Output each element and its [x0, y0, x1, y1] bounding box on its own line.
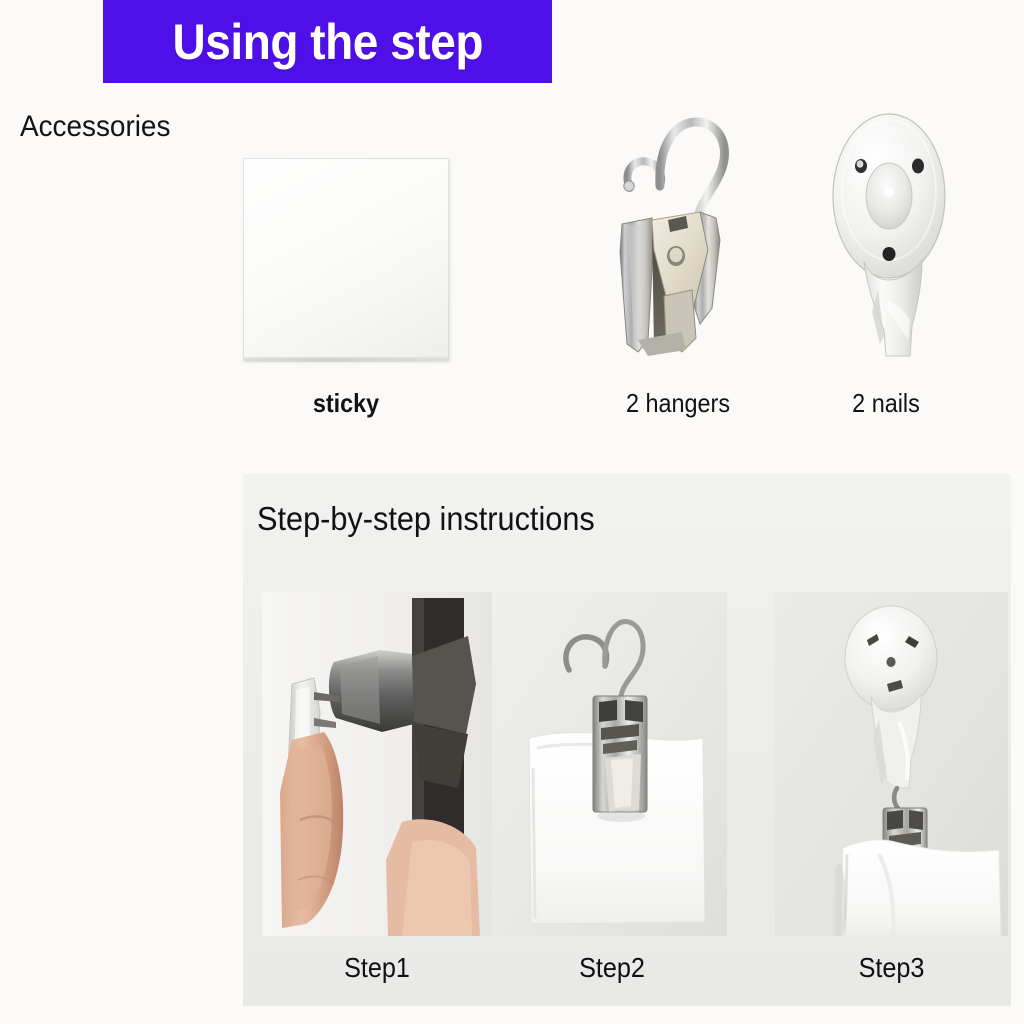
- step-caption-3: Step3: [787, 952, 997, 984]
- step-photo-3: [775, 592, 1008, 936]
- step-photo-2: [497, 592, 727, 936]
- accessory-caption-nails: 2 nails: [814, 388, 958, 419]
- adhesive-pad-icon: [243, 158, 449, 360]
- accessories-section-label: Accessories: [20, 110, 170, 144]
- title-banner: Using the step: [103, 0, 552, 83]
- accessory-caption-sticky: sticky: [253, 388, 438, 419]
- step-caption-1: Step1: [274, 952, 481, 984]
- wall-hook-nail-icon: [828, 104, 950, 360]
- step-photo-1: [262, 592, 492, 936]
- step-caption-2: Step2: [509, 952, 716, 984]
- hanger-clip-icon: [608, 100, 738, 360]
- page-title: Using the step: [172, 17, 482, 67]
- instructions-heading: Step-by-step instructions: [257, 500, 595, 538]
- accessory-caption-hangers: 2 hangers: [597, 388, 759, 419]
